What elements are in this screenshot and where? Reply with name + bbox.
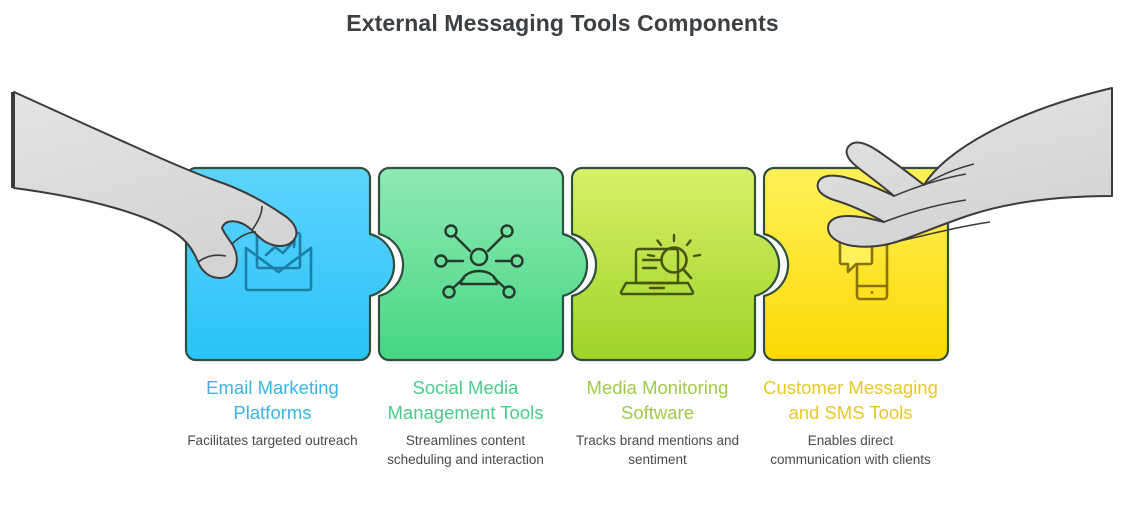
caption-customer-messaging-sms-tools: Customer Messaging and SMS Tools Enables… <box>754 375 947 469</box>
caption-title: Media Monitoring Software <box>561 375 754 425</box>
captions-row: Email Marketing Platforms Facilitates ta… <box>0 375 1125 530</box>
caption-description: Tracks brand mentions and sentiment <box>561 431 754 469</box>
caption-social-media-management-tools: Social Media Management Tools Streamline… <box>369 375 562 469</box>
caption-email-marketing-platforms: Email Marketing Platforms Facilitates ta… <box>176 375 369 450</box>
caption-title: Social Media Management Tools <box>369 375 562 425</box>
puzzle-piece-social-media-management-tools[interactable] <box>379 168 587 360</box>
caption-title: Email Marketing Platforms <box>176 375 369 425</box>
caption-description: Streamlines content scheduling and inter… <box>369 431 562 469</box>
infographic-canvas: External Messaging Tools Components <box>0 0 1125 530</box>
right-hand <box>818 88 1112 247</box>
caption-title: Customer Messaging and SMS Tools <box>754 375 947 425</box>
caption-description: Facilitates targeted outreach <box>176 431 369 450</box>
page-title: External Messaging Tools Components <box>0 10 1125 37</box>
puzzle-diagram <box>0 70 1125 370</box>
caption-description: Enables direct communication with client… <box>754 431 947 469</box>
caption-media-monitoring-software: Media Monitoring Software Tracks brand m… <box>561 375 754 469</box>
puzzle-piece-media-monitoring-software[interactable] <box>572 168 779 360</box>
